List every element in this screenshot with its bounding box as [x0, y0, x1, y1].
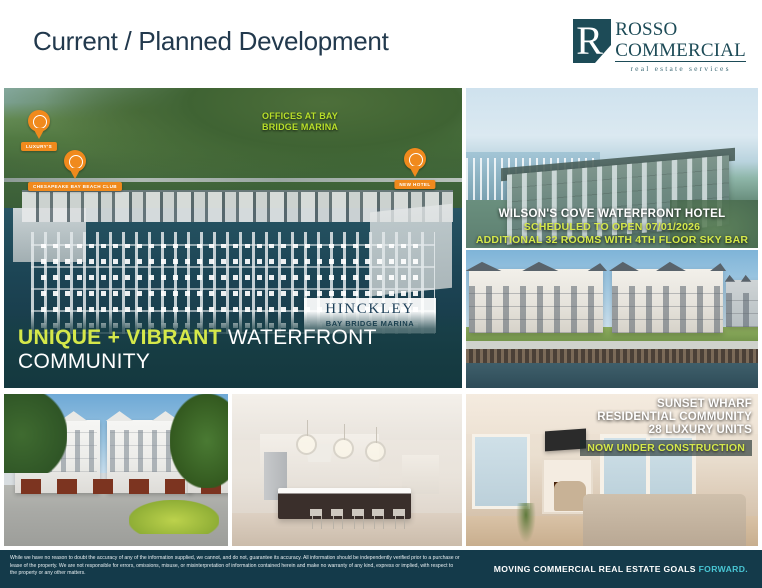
map-pin-luxurys[interactable]	[28, 110, 50, 140]
hotel-caption-line2: SCHEDULED TO OPEN 07/01/2026	[472, 221, 752, 233]
kitchen-island	[278, 488, 411, 518]
sunset-wharf-caption-block: SUNSET WHARF RESIDENTIAL COMMUNITY 28 LU…	[522, 398, 752, 456]
pendant-light-1	[296, 434, 317, 455]
condo-building-right	[612, 269, 723, 332]
footer-disclaimer: While we have no reason to doubt the acc…	[10, 555, 460, 578]
bar-stool-4	[372, 509, 384, 529]
hotel-caption-line1: WILSON'S COVE WATERFRONT HOTEL	[472, 208, 752, 220]
aerial-callout-offices-line1: OFFICES AT BAY	[262, 111, 338, 122]
living-sofa	[583, 494, 747, 546]
aerial-callout-offices-line2: BRIDGE MARINA	[262, 122, 338, 133]
footer-tagline-main: MOVING COMMERCIAL REAL ESTATE GOALS	[494, 564, 699, 574]
hotel-caption-block: WILSON'S COVE WATERFRONT HOTEL SCHEDULED…	[466, 208, 758, 246]
aerial-bottom-banner: UNIQUE + VIBRANT WATERFRONT COMMUNITY	[4, 312, 462, 388]
slide-header: Current / Planned Development R ROSSO CO…	[0, 0, 762, 86]
map-pin-label-beach-club: CHESAPEAKE BAY BEACH CLUB	[28, 182, 122, 191]
pin-tip	[409, 166, 421, 177]
condo-building-left	[469, 269, 603, 332]
sunset-caption-line3: 28 LUXURY UNITS	[522, 424, 752, 437]
townhomes-rendering	[4, 394, 228, 546]
footer-tagline: MOVING COMMERCIAL REAL ESTATE GOALS FORW…	[494, 564, 748, 574]
bar-stool-3	[352, 509, 364, 529]
map-pin-label-new-hotel: NEW HOTEL	[394, 180, 435, 189]
living-plant	[516, 503, 536, 543]
aerial-marina-photo: LUXURY'S CHESAPEAKE BAY BEACH CLUB NEW H…	[4, 88, 462, 388]
logo-line-tagline: real estate services	[615, 64, 746, 73]
kitchen-interior-photo	[232, 394, 462, 546]
hotel-caption-line3: ADDITIONAL 32 ROOMS WITH 4TH FLOOR SKY B…	[472, 234, 752, 246]
slide-page: Current / Planned Development R ROSSO CO…	[0, 0, 762, 588]
town-tree-right	[170, 394, 228, 488]
bar-stool-5	[393, 509, 405, 529]
sunset-caption-line1: SUNSET WHARF	[522, 398, 752, 411]
logo-line-commercial: COMMERCIAL	[615, 41, 746, 62]
living-armchair	[554, 481, 586, 511]
sunset-wharf-interior-photo: SUNSET WHARF RESIDENTIAL COMMUNITY 28 LU…	[466, 394, 758, 546]
town-shrubs	[129, 500, 219, 533]
status-badge-under-construction: NOW UNDER CONSTRUCTION	[580, 440, 752, 456]
logo-r-mark-icon: R	[573, 19, 611, 63]
condo-water-layer	[466, 363, 758, 388]
rosso-commercial-logo: R ROSSO COMMERCIAL real estate services	[573, 19, 746, 73]
pin-tip	[33, 128, 45, 139]
aerial-banner-highlight: UNIQUE + VIBRANT	[18, 326, 222, 349]
bar-stool-2	[331, 509, 343, 529]
aerial-banner-text: UNIQUE + VIBRANT WATERFRONT COMMUNITY	[4, 326, 462, 374]
logo-line-rosso: ROSSO	[615, 20, 746, 39]
map-pin-new-hotel[interactable]	[404, 148, 426, 178]
map-pin-label-luxurys: LUXURY'S	[21, 142, 57, 151]
pin-tip	[69, 168, 81, 179]
logo-wordmark: ROSSO COMMERCIAL real estate services	[615, 19, 746, 73]
wilsons-cove-hotel-photo: WILSON'S COVE WATERFRONT HOTEL SCHEDULED…	[466, 88, 758, 248]
sunset-caption-line2: RESIDENTIAL COMMUNITY	[522, 411, 752, 424]
bar-stool-1	[310, 509, 322, 529]
waterfront-condos-rendering	[466, 250, 758, 388]
logo-letter-r: R	[576, 21, 603, 61]
page-title: Current / Planned Development	[33, 26, 389, 57]
slide-footer: While we have no reason to doubt the acc…	[0, 550, 762, 588]
town-tree-left	[4, 394, 67, 473]
condo-building-far	[726, 280, 758, 327]
footer-tagline-accent: FORWARD.	[699, 564, 748, 574]
map-pin-beach-club[interactable]	[64, 150, 86, 180]
